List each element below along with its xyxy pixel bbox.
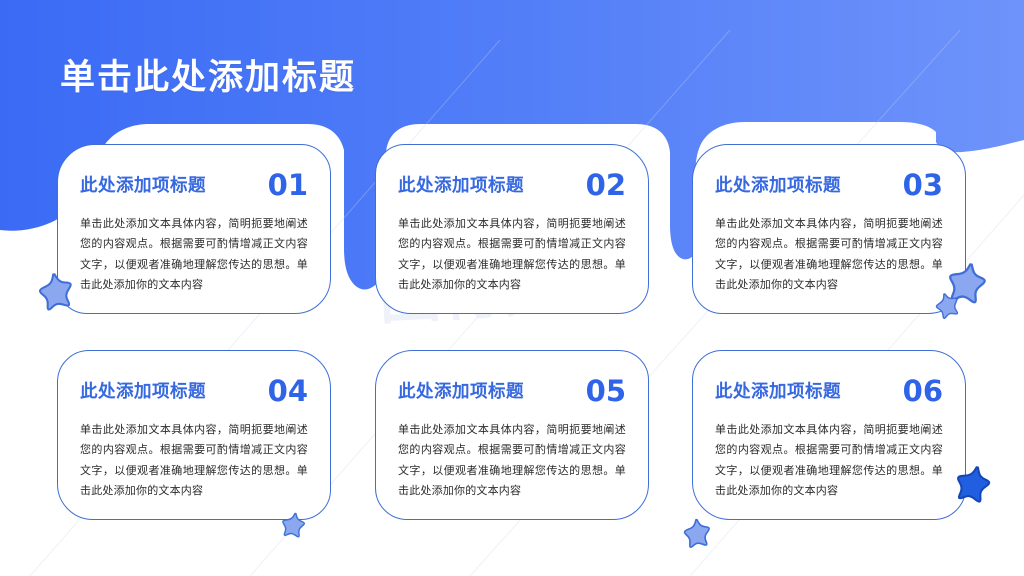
star-bottom-center-icon bbox=[681, 516, 715, 550]
card-body: 单击此处添加文本具体内容，简明扼要地阐述您的内容观点。根据需要可酌情增减正文内容… bbox=[715, 214, 943, 295]
card-number: 02 bbox=[586, 171, 626, 200]
card-03[interactable]: 此处添加项标题 03 单击此处添加文本具体内容，简明扼要地阐述您的内容观点。根据… bbox=[692, 144, 966, 314]
card-04[interactable]: 此处添加项标题 04 单击此处添加文本具体内容，简明扼要地阐述您的内容观点。根据… bbox=[57, 350, 331, 520]
card-header: 此处添加项标题 05 bbox=[398, 377, 626, 406]
card-06[interactable]: 此处添加项标题 06 单击此处添加文本具体内容，简明扼要地阐述您的内容观点。根据… bbox=[692, 350, 966, 520]
card-title: 此处添加项标题 bbox=[398, 377, 524, 401]
card-header: 此处添加项标题 01 bbox=[80, 171, 308, 200]
card-header: 此处添加项标题 03 bbox=[715, 171, 943, 200]
card-body: 单击此处添加文本具体内容，简明扼要地阐述您的内容观点。根据需要可酌情增减正文内容… bbox=[80, 420, 308, 501]
card-01[interactable]: 此处添加项标题 01 单击此处添加文本具体内容，简明扼要地阐述您的内容观点。根据… bbox=[57, 144, 331, 314]
card-title: 此处添加项标题 bbox=[715, 377, 841, 401]
card-body: 单击此处添加文本具体内容，简明扼要地阐述您的内容观点。根据需要可酌情增减正文内容… bbox=[398, 214, 626, 295]
card-number: 04 bbox=[268, 377, 308, 406]
card-body: 单击此处添加文本具体内容，简明扼要地阐述您的内容观点。根据需要可酌情增减正文内容… bbox=[80, 214, 308, 295]
card-number: 06 bbox=[903, 377, 943, 406]
card-title: 此处添加项标题 bbox=[80, 377, 206, 401]
card-title: 此处添加项标题 bbox=[80, 171, 206, 195]
page-title: 单击此处添加标题 bbox=[60, 57, 356, 99]
card-number: 03 bbox=[903, 171, 943, 200]
card-header: 此处添加项标题 02 bbox=[398, 171, 626, 200]
card-title: 此处添加项标题 bbox=[715, 171, 841, 195]
slide-canvas: 图行天下 单击此处添加标题 此处添加项标题 01 单击此处添加文本具体内容，简明… bbox=[0, 0, 1024, 576]
card-body: 单击此处添加文本具体内容，简明扼要地阐述您的内容观点。根据需要可酌情增减正文内容… bbox=[715, 420, 943, 501]
card-title: 此处添加项标题 bbox=[398, 171, 524, 195]
card-02[interactable]: 此处添加项标题 02 单击此处添加文本具体内容，简明扼要地阐述您的内容观点。根据… bbox=[375, 144, 649, 314]
card-number: 05 bbox=[586, 377, 626, 406]
card-05[interactable]: 此处添加项标题 05 单击此处添加文本具体内容，简明扼要地阐述您的内容观点。根据… bbox=[375, 350, 649, 520]
card-header: 此处添加项标题 06 bbox=[715, 377, 943, 406]
card-header: 此处添加项标题 04 bbox=[80, 377, 308, 406]
card-body: 单击此处添加文本具体内容，简明扼要地阐述您的内容观点。根据需要可酌情增减正文内容… bbox=[398, 420, 626, 501]
card-number: 01 bbox=[268, 171, 308, 200]
